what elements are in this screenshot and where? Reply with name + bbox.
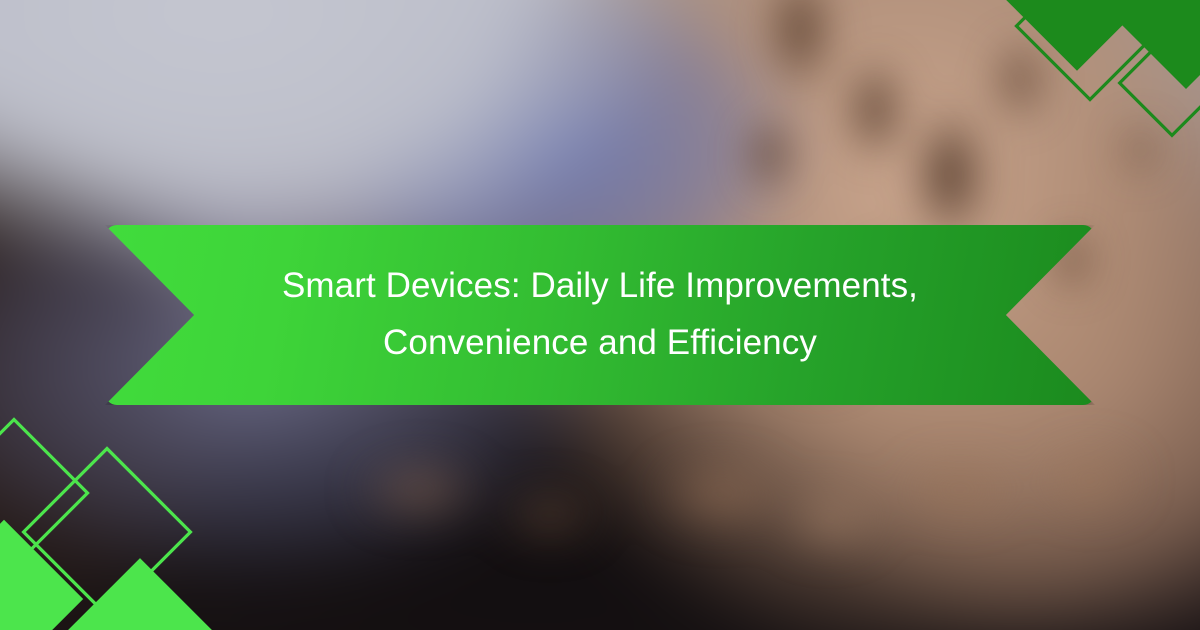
title-ribbon: Smart Devices: Daily Life Improvements, … <box>105 225 1095 405</box>
page-title-line-2: Convenience and Efficiency <box>383 315 817 372</box>
background-lowlights <box>300 420 1200 630</box>
og-image-card: Smart Devices: Daily Life Improvements, … <box>0 0 1200 630</box>
page-title: Smart Devices: Daily Life Improvements, … <box>105 225 1095 405</box>
page-title-line-1: Smart Devices: Daily Life Improvements, <box>282 258 918 315</box>
